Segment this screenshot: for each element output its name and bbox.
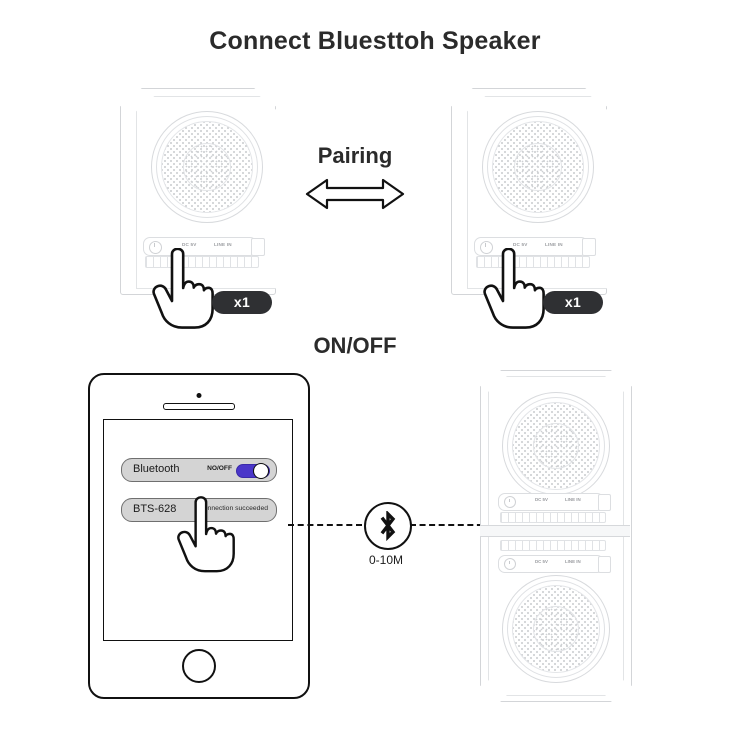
range-label: 0-10M — [350, 553, 422, 567]
power-icon[interactable] — [504, 496, 516, 508]
dc-label: DC 5V — [535, 497, 548, 502]
pointing-hand-icon — [175, 496, 235, 574]
bluetooth-row-label: Bluetooth — [133, 463, 179, 475]
bluetooth-toggle[interactable] — [236, 464, 270, 478]
home-button-icon[interactable] — [182, 649, 216, 683]
onoff-label: ON/OFF — [300, 333, 410, 359]
line-in-jack — [251, 238, 265, 256]
dc-label: DC 5V — [513, 242, 528, 247]
line-in-jack — [598, 494, 611, 511]
press-count-badge-right: x1 — [543, 291, 603, 314]
line-in-jack — [582, 238, 596, 256]
stacked-speaker-bottom-dome — [533, 606, 579, 652]
power-icon[interactable] — [504, 558, 516, 570]
stacked-speaker-top-vents — [500, 512, 606, 523]
device-name-label: BTS-628 — [133, 503, 176, 515]
stacked-speaker-bottom-control-panel[interactable]: DC 5V LINE IN — [498, 555, 604, 573]
link-line-left — [288, 524, 362, 526]
toggle-knob[interactable] — [253, 463, 269, 479]
line-in-jack — [598, 556, 611, 573]
dc-label: DC 5V — [182, 242, 197, 247]
page-title: Connect Bluesttoh Speaker — [0, 27, 750, 56]
stacked-speaker-top-control-panel[interactable]: DC 5V LINE IN — [498, 493, 604, 511]
stacked-speaker-top-dome — [533, 423, 579, 469]
line-in-label: LINE IN — [565, 497, 581, 502]
speaker-right-dome — [514, 143, 562, 191]
illustration-canvas: Connect Bluesttoh Speaker DC 5V LINE IN … — [0, 0, 750, 750]
bluetooth-icon — [364, 502, 412, 550]
dc-label: DC 5V — [535, 559, 548, 564]
pairing-label: Pairing — [300, 143, 410, 169]
earpiece-speaker-icon — [163, 403, 235, 410]
line-in-label: LINE IN — [565, 559, 581, 564]
pointing-hand-icon — [481, 248, 545, 330]
press-count-badge-left: x1 — [212, 291, 272, 314]
camera-dot-icon — [197, 393, 202, 398]
pointing-hand-icon — [150, 248, 214, 330]
speaker-left-dome — [183, 143, 231, 191]
stacked-speaker-bottom-vents — [500, 540, 606, 551]
line-in-label: LINE IN — [214, 242, 232, 247]
toggle-label: NO/OFF — [207, 465, 232, 472]
double-headed-arrow-icon — [305, 175, 405, 213]
stacked-speakers[interactable]: DC 5V LINE IN DC 5V LINE IN — [480, 370, 630, 700]
stack-seam — [480, 525, 630, 537]
settings-row-bluetooth[interactable]: Bluetooth NO/OFF — [121, 458, 277, 482]
line-in-label: LINE IN — [545, 242, 563, 247]
